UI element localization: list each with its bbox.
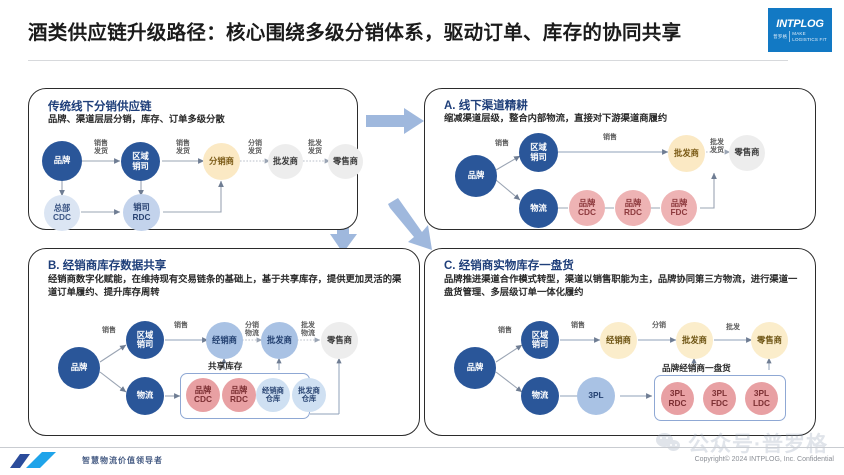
node-hq-cdc: 总部 CDC — [44, 195, 80, 231]
footer-copyright: Copyright© 2024 INTPLOG, Inc. Confidenti… — [695, 456, 834, 463]
edge-label-distribute-ship: 分销 发货 — [239, 140, 271, 155]
edge-label-sales-ship-2: 销售 发货 — [165, 140, 201, 155]
edge-label-c-sales-1: 销售 — [492, 327, 518, 335]
edge-label-sales-ship-1: 销售 发货 — [84, 140, 118, 155]
panel-c-title: C. 经销商实物库存一盘货 — [444, 257, 574, 273]
node-a-brand: 品牌 — [455, 155, 497, 197]
footer-divider — [0, 447, 844, 448]
panel-b-shared-inventory-label: 共享库存 — [208, 360, 242, 372]
node-c-3pl-fdc: 3PL FDC — [703, 382, 736, 415]
edge-label-c-sales-2: 销售 — [565, 322, 591, 330]
edge-label-b-sales-1: 销售 — [96, 327, 122, 335]
node-a-wholesaler: 批发商 — [668, 135, 705, 172]
node-c-dealer: 经销商 — [600, 322, 637, 359]
node-retailer: 零售商 — [328, 144, 363, 179]
company-logo: INTPLOG 普罗格 MAKE LOGISTICS FIT — [768, 8, 832, 52]
node-c-3pl: 3PL — [577, 377, 615, 415]
node-b-brand: 品牌 — [58, 347, 100, 389]
edge-label-c-distribute: 分销 — [646, 322, 672, 330]
panel-a-title: A. 线下渠道精耕 — [444, 97, 528, 113]
panel-a-desc: 缩减渠道层级，整合内部物流，直接对下游渠道商履约 — [444, 112, 799, 125]
node-a-brand-rdc: 品牌 RDC — [615, 190, 651, 226]
node-brand: 品牌 — [42, 141, 82, 181]
node-b-wholesaler-warehouse: 批发商 仓库 — [292, 378, 326, 412]
node-c-3pl-ldc: 3PL LDC — [745, 382, 778, 415]
edge-label-a-sales-1: 销售 — [489, 140, 515, 148]
node-b-brand-rdc: 品牌 RDC — [222, 378, 256, 412]
page-title: 酒类供应链升级路径：核心围绕多级分销体系，驱动订单、库存的协同共享 — [28, 16, 681, 45]
node-a-brand-cdc: 品牌 CDC — [569, 190, 605, 226]
footer-tagline: 智慧物流价值领导者 — [82, 455, 163, 466]
edge-label-wholesale-ship: 批发 发货 — [300, 140, 330, 155]
node-c-wholesaler: 批发商 — [676, 322, 713, 359]
node-distributor: 分销商 — [203, 143, 240, 180]
logo-chinese-name: 普罗格 — [773, 34, 787, 40]
logo-tagline: MAKE LOGISTICS FIT — [789, 31, 827, 41]
header-divider — [28, 60, 788, 61]
node-a-logistics: 物流 — [519, 189, 558, 228]
edge-label-b-sales-2: 销售 — [168, 322, 194, 330]
node-b-brand-cdc: 品牌 CDC — [186, 378, 220, 412]
logo-tagline-line2: LOGISTICS FIT — [792, 37, 827, 42]
footer-logo-mark — [8, 450, 70, 470]
node-a-retailer: 零售商 — [729, 135, 765, 171]
panel-traditional-desc: 品牌、渠道层层分销，库存、订单多级分散 — [48, 113, 338, 126]
node-a-brand-fdc: 品牌 FDC — [661, 190, 697, 226]
node-c-brand: 品牌 — [454, 347, 496, 389]
edge-label-a-sales-2: 销售 — [597, 134, 623, 142]
slide-header: 酒类供应链升级路径：核心围绕多级分销体系，驱动订单、库存的协同共享 INTPLO… — [0, 0, 844, 62]
node-regional-company: 区域 销司 — [121, 142, 160, 181]
node-sales-rdc: 销司 RDC — [123, 194, 160, 231]
node-b-dealer-warehouse: 经销商 仓库 — [256, 378, 290, 412]
node-b-regional-company: 区域 销司 — [126, 321, 164, 359]
logo-subtext: 普罗格 MAKE LOGISTICS FIT — [773, 31, 827, 41]
edge-label-c-wholesale: 批发 — [720, 324, 746, 332]
node-c-regional-company: 区域 销司 — [521, 321, 559, 359]
connector-arrow-right — [366, 108, 426, 134]
slide-root: 酒类供应链升级路径：核心围绕多级分销体系，驱动订单、库存的协同共享 INTPLO… — [0, 0, 844, 475]
panel-b-desc: 经销商数字化赋能，在维持现有交易链条的基础上，基于共享库存，提供更加灵活的渠道订… — [48, 273, 403, 300]
panel-b-title: B. 经销商库存数据共享 — [48, 257, 166, 273]
node-c-3pl-rdc: 3PL RDC — [661, 382, 694, 415]
node-c-retailer: 零售商 — [751, 322, 788, 359]
edge-label-a-wholesale-ship: 批发 发货 — [703, 139, 731, 154]
panel-c-one-pool-label: 品牌经销商一盘货 — [662, 362, 731, 374]
edge-label-b-wholesale-logistics: 批发 物流 — [294, 322, 322, 337]
node-c-logistics: 物流 — [521, 377, 559, 415]
panel-traditional-title: 传统线下分销供应链 — [48, 98, 152, 114]
node-b-wholesaler: 批发商 — [261, 322, 298, 359]
node-wholesaler: 批发商 — [268, 144, 303, 179]
node-a-regional-company: 区域 销司 — [519, 133, 558, 172]
node-b-retailer: 零售商 — [321, 322, 358, 359]
edge-label-b-distribute-logistics: 分销 物流 — [238, 322, 266, 337]
node-b-logistics: 物流 — [126, 377, 164, 415]
panel-c-desc: 品牌推进渠道合作模式转型，渠道以销售职能为主，品牌协同第三方物流，进行渠道一盘货… — [444, 273, 799, 300]
logo-wordmark: INTPLOG — [776, 18, 824, 30]
